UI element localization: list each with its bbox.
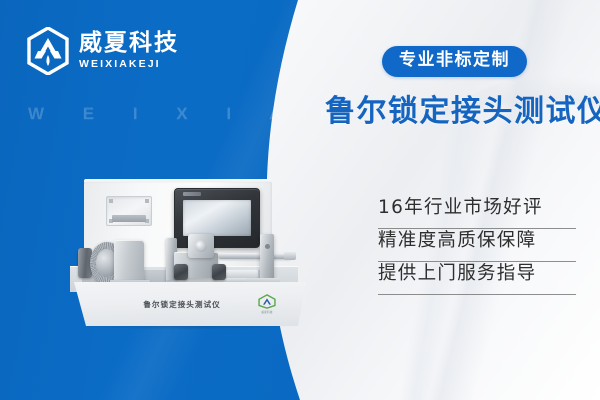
adjust-knob-right [212, 264, 226, 280]
bracket-corner-3 [109, 219, 113, 223]
product-image: 鲁尔锁定接头测试仪 威夏科技 [70, 182, 330, 378]
promo-banner: 威夏科技 WEIXIAKEJI W E I X I A K E 专业非标定制 鲁… [0, 0, 600, 400]
hmi-brand-strip [183, 192, 201, 196]
bracket-corner-2 [145, 199, 149, 203]
rod-support-bore [265, 244, 270, 249]
bracket-corner-1 [109, 199, 113, 203]
brand-name-en: WEIXIAKEJI [79, 59, 179, 70]
machine-front-bracket-panel [106, 196, 152, 226]
custom-service-badge: 专业非标定制 [382, 46, 527, 77]
torque-drive-housing [114, 240, 144, 284]
machine-nameplate: 鲁尔锁定接头测试仪 [122, 299, 242, 310]
machine-plinth-logo-caption: 威夏科技 [261, 310, 273, 314]
piston-rod [218, 253, 292, 259]
feature-item-3: 提供上门服务指导 [378, 262, 578, 294]
luer-lock-holder [188, 234, 214, 258]
feature-item-1: 16年行业市场好评 [378, 196, 578, 228]
brand-name-cn: 威夏科技 [79, 32, 179, 55]
brand-logo-text: 威夏科技 WEIXIAKEJI [79, 32, 179, 70]
brand-logo: 威夏科技 WEIXIAKEJI [26, 27, 179, 75]
adjust-knob-left [174, 264, 188, 280]
hmi-touchscreen [174, 188, 260, 248]
feature-item-2: 精准度高质保保障 [378, 229, 578, 261]
machine-plinth-logo-icon: 威夏科技 [256, 292, 278, 316]
page-title: 鲁尔锁定接头测试仪 [325, 86, 600, 130]
feature-divider-1 [378, 228, 576, 229]
hmi-screen-glass [183, 200, 251, 236]
feature-divider-2 [378, 261, 576, 262]
feature-list: 16年行业市场好评 精准度高质保保障 提供上门服务指导 [378, 196, 578, 295]
feature-divider-3 [378, 294, 576, 295]
piston-rod-tip [284, 252, 296, 260]
hexagon-mountain-logo-icon [26, 27, 70, 75]
bracket-corner-4 [145, 219, 149, 223]
